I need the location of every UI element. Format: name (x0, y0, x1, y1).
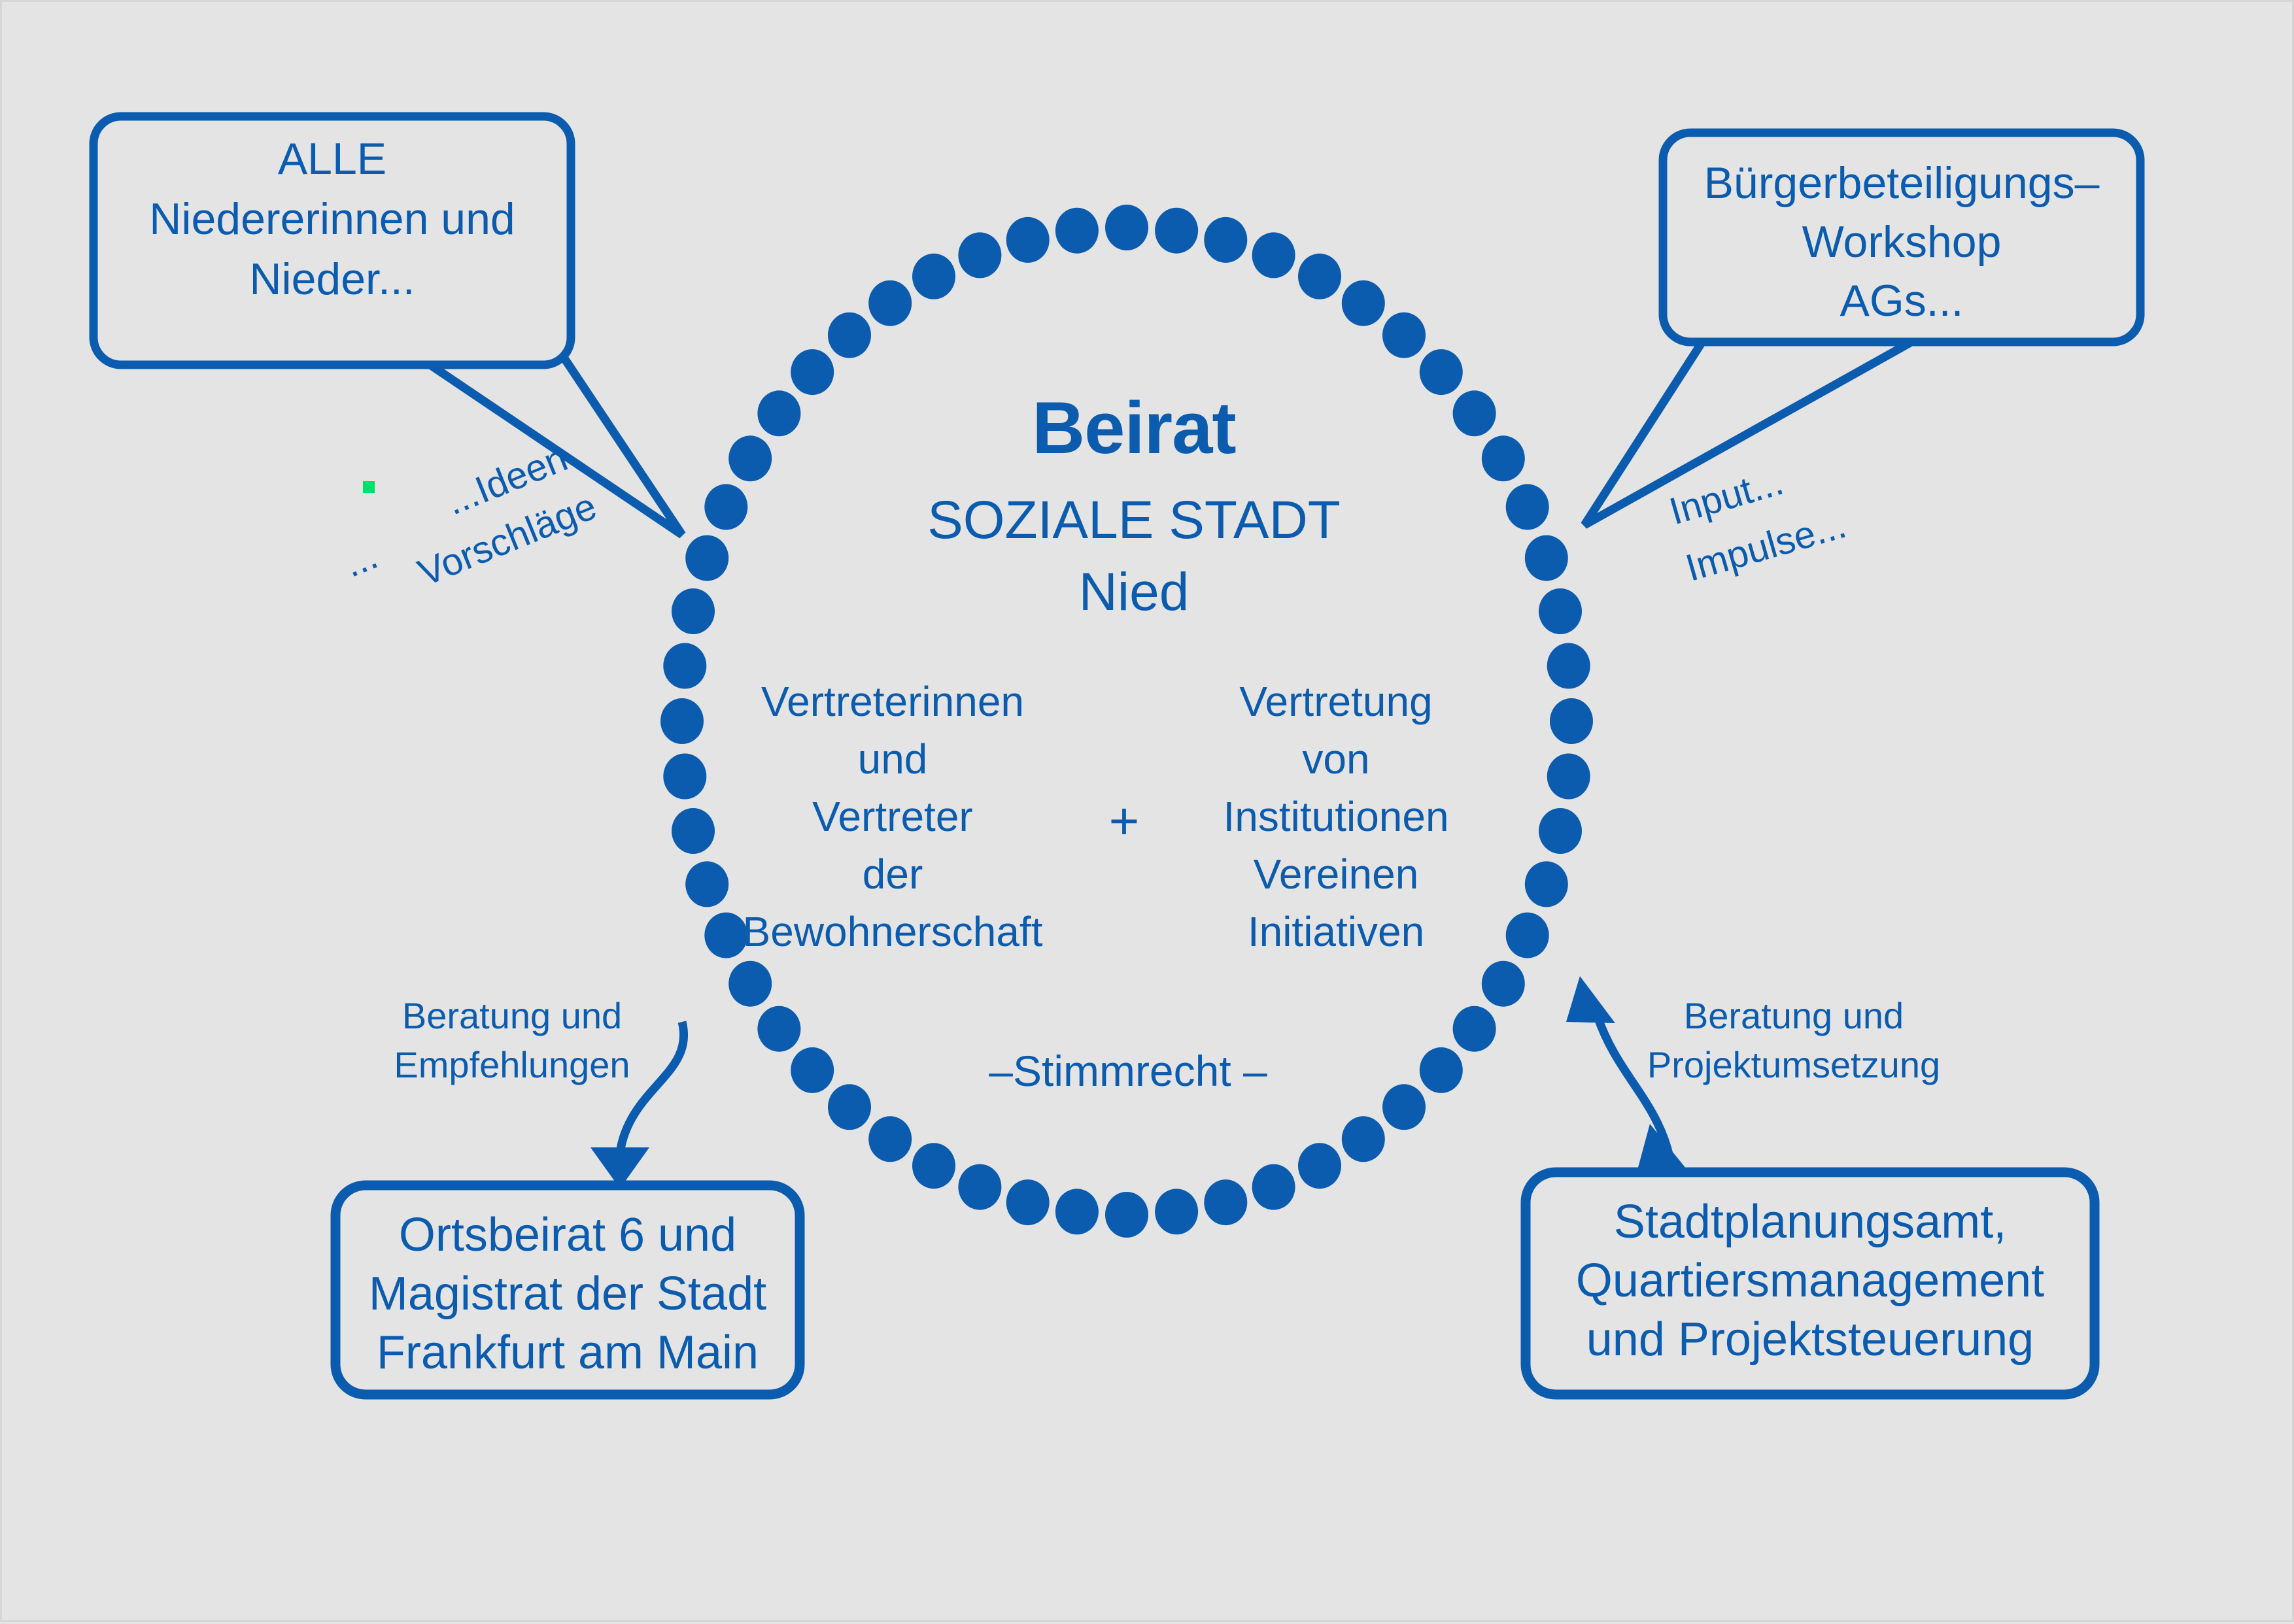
circle-dot (1539, 808, 1582, 854)
circle-dot (1252, 232, 1295, 278)
arrow-left-shaft (620, 1022, 684, 1153)
circle-dot (1547, 754, 1590, 800)
left-column-line-5: Bewohnerschaft (743, 908, 1043, 955)
circle-dot (1204, 1179, 1247, 1225)
beirat-organigramm: Beirat SOZIALE STADT Nied Vertreterinnen… (2, 2, 2294, 1624)
speech-bubble-buergerbeteiligung-line-2: Workshop (1802, 217, 2002, 267)
circle-dot (660, 698, 704, 744)
circle-dot (704, 484, 747, 530)
circle-dot (828, 313, 871, 358)
circle-dot (1506, 913, 1549, 958)
circle-dot (685, 861, 728, 907)
circle-dot (1055, 208, 1099, 254)
circle-dot (828, 1084, 871, 1130)
circle-dot (757, 390, 800, 436)
right-column-line-1: Vertretung (1239, 678, 1432, 725)
green-marker-square (363, 481, 375, 493)
circle-dot (1539, 588, 1582, 634)
circle-dot (1105, 1192, 1148, 1238)
circle-dot (685, 535, 728, 581)
center-subtitle-2: Nied (1079, 562, 1190, 622)
circle-dot (1006, 1179, 1050, 1225)
speech-bubble-alle-line-1: ALLE (278, 134, 386, 184)
label-beratung-empfehlungen-line-2: Empfehlungen (394, 1044, 630, 1085)
circle-dot (1105, 205, 1148, 250)
circle-dot (1482, 435, 1525, 481)
circle-dot (1055, 1189, 1099, 1234)
circle-dot (1550, 698, 1593, 744)
circle-dot (672, 808, 715, 854)
circle-dot (704, 913, 747, 958)
circle-dot (1525, 535, 1568, 581)
circle-dot (663, 754, 706, 800)
speech-bubble-buergerbeteiligung-line-1: Bürgerbeteiligungs– (1704, 158, 2100, 208)
plus-operator: + (1109, 792, 1140, 850)
circle-dot (1420, 1047, 1463, 1093)
circle-dot (728, 435, 772, 481)
label-ideen-group: ...Ideen Vorschläge ... (331, 433, 602, 619)
center-subtitle: SOZIALE STADT (927, 490, 1341, 550)
speech-bubble-alle-line-2: Niedererinnen und (149, 194, 515, 244)
diagram-canvas: Beirat SOZIALE STADT Nied Vertreterinnen… (0, 0, 2294, 1622)
circle-dot (1547, 643, 1590, 689)
circle-dot (1155, 208, 1198, 254)
box-ortsbeirat-line-1: Ortsbeirat 6 und (399, 1209, 736, 1261)
right-column-line-3: Institutionen (1223, 793, 1448, 840)
connector-left: Beratung und Empfehlungen (394, 995, 683, 1189)
connector-right: Beratung und Projektumsetzung (1566, 976, 1940, 1172)
circle-dot (1298, 1143, 1341, 1189)
circle-dot (1252, 1164, 1295, 1210)
center-content: Beirat SOZIALE STADT Nied Vertreterinnen… (743, 387, 1449, 1095)
stimmrecht-note: –Stimmrecht – (989, 1047, 1267, 1095)
circle-dot (1453, 390, 1496, 436)
box-stadtplanungsamt-line-1: Stadtplanungsamt, (1614, 1196, 2006, 1248)
circle-dot (1382, 313, 1426, 358)
box-stadtplanungsamt-line-2: Quartiersmanagement (1576, 1255, 2044, 1307)
circle-dot (1453, 1006, 1496, 1052)
left-column-group: Vertreterinnen und Vertreter der Bewohne… (743, 678, 1043, 955)
circle-dot (728, 961, 772, 1007)
label-beratung-projektumsetzung-line-2: Projektumsetzung (1647, 1044, 1940, 1085)
left-column-line-3: Vertreter (812, 793, 972, 840)
box-ortsbeirat[interactable]: Ortsbeirat 6 und Magistrat der Stadt Fra… (335, 1185, 800, 1395)
label-beratung-projektumsetzung-line-1: Beratung und (1684, 995, 1904, 1036)
circle-dot (1298, 254, 1341, 299)
circle-dot (912, 254, 955, 299)
box-stadtplanungsamt-line-3: und Projektsteuerung (1586, 1313, 2034, 1366)
left-column-line-1: Vertreterinnen (761, 678, 1024, 725)
label-beratung-empfehlungen-line-1: Beratung und (402, 995, 622, 1036)
right-column-line-5: Initiativen (1248, 908, 1424, 955)
center-title: Beirat (1032, 387, 1235, 469)
left-column-line-2: und (858, 736, 928, 783)
left-column-line-4: der (863, 851, 923, 898)
circle-dot (791, 1047, 834, 1093)
circle-dot (1204, 217, 1247, 263)
speech-bubble-buergerbeteiligung[interactable]: Bürgerbeteiligungs– Workshop AGs... (1584, 133, 2140, 525)
speech-bubble-alle-line-3: Nieder... (249, 254, 415, 304)
circle-dot (1342, 280, 1385, 326)
circle-dot (868, 1116, 912, 1162)
circle-dot (1420, 349, 1463, 395)
right-column-line-4: Vereinen (1254, 851, 1419, 898)
circle-dot (1506, 484, 1549, 530)
circle-dot (1342, 1116, 1385, 1162)
circle-dot (958, 1164, 1001, 1210)
right-column-group: Vertretung von Institutionen Vereinen In… (1223, 678, 1448, 955)
box-ortsbeirat-line-2: Magistrat der Stadt (369, 1268, 766, 1320)
circle-dot (757, 1006, 800, 1052)
arrow-right-head-up (1566, 976, 1615, 1023)
circle-dot (672, 588, 715, 634)
speech-bubble-buergerbeteiligung-line-3: AGs... (1840, 276, 1964, 326)
circle-dot (1155, 1189, 1198, 1234)
circle-dot (791, 349, 834, 395)
circle-dot (1482, 961, 1525, 1007)
box-stadtplanungsamt[interactable]: Stadtplanungsamt, Quartiersmanagement un… (1526, 1172, 2095, 1395)
label-ideen-dots: ... (338, 534, 383, 585)
box-ortsbeirat-line-3: Frankfurt am Main (377, 1327, 759, 1379)
circle-dot (1382, 1084, 1426, 1130)
circle-dot (868, 280, 912, 326)
circle-dot (1525, 861, 1568, 907)
circle-dot (958, 232, 1001, 278)
circle-dot (912, 1143, 955, 1189)
circle-dot (663, 643, 706, 689)
right-column-line-2: von (1302, 736, 1369, 783)
circle-dot (1006, 217, 1050, 263)
speech-bubble-alle[interactable]: ALLE Niedererinnen und Nieder... (94, 116, 682, 535)
